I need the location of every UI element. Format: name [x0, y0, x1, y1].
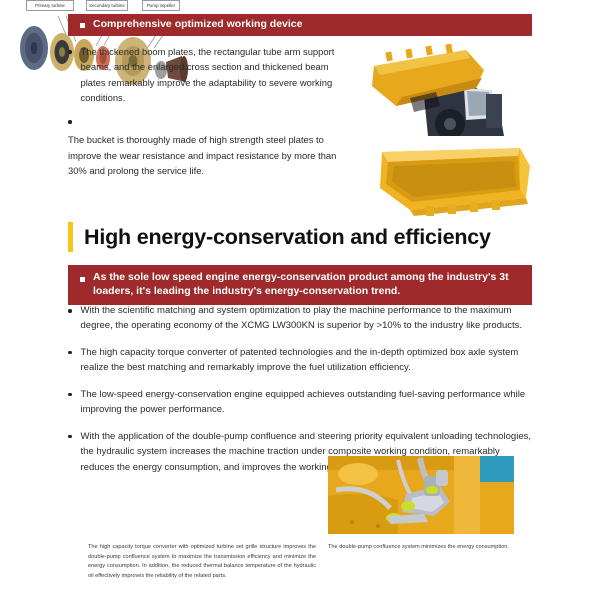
- list-item-text: With the scientific matching and system …: [81, 303, 535, 334]
- bullet-dot-icon: [68, 120, 72, 124]
- list-item-marker-only: [68, 114, 356, 123]
- diagram-label-secondary-turbine: Secondary turbine: [86, 0, 128, 11]
- section1-banner-label: Comprehensive optimized working device: [93, 18, 302, 32]
- diagram-label-pump-impeller: Pump impeller: [142, 0, 180, 11]
- double-pump-graphic: [328, 456, 514, 534]
- section2-banner: As the sole low speed engine energy-cons…: [68, 265, 532, 305]
- list-item: The bucket is thoroughly made of high st…: [68, 132, 356, 178]
- wheel-loader-bucket-photo: [366, 44, 532, 136]
- list-item-text: The low-speed energy-conservation engine…: [81, 387, 535, 418]
- page-title-text: High energy-conservation and efficiency: [84, 225, 491, 250]
- square-bullet-icon: [80, 277, 85, 282]
- double-pump-confluence-photo: [328, 456, 514, 534]
- list-item-text: The thickened boom plates, the rectangul…: [81, 44, 357, 105]
- list-item: The high capacity torque converter of pa…: [68, 345, 534, 376]
- yellow-accent-bar: [68, 222, 73, 252]
- bullet-dot-icon: [68, 351, 72, 355]
- list-item-text: The high capacity torque converter of pa…: [81, 345, 535, 376]
- bullet-dot-icon: [68, 50, 72, 54]
- list-item: The thickened boom plates, the rectangul…: [68, 44, 356, 105]
- bucket-photo-graphic: [370, 140, 534, 224]
- list-item: The low-speed energy-conservation engine…: [68, 387, 534, 418]
- torque-converter-caption: The high capacity torque converter with …: [88, 543, 316, 581]
- loader-photo-graphic: [366, 44, 532, 136]
- section2-banner-label: As the sole low speed engine energy-cons…: [93, 271, 522, 299]
- list-item: With the scientific matching and system …: [68, 303, 534, 334]
- page-title: High energy-conservation and efficiency: [68, 222, 491, 252]
- section1-bullet-list: The thickened boom plates, the rectangul…: [68, 44, 356, 187]
- brochure-page: Comprehensive optimized working device T…: [0, 0, 600, 600]
- bullet-dot-icon: [68, 435, 72, 439]
- list-item-text: The bucket is thoroughly made of high st…: [68, 132, 356, 178]
- diagram-label-primary-turbine: Primary turbine: [26, 0, 74, 11]
- standalone-bucket-photo: [370, 140, 534, 224]
- section1-banner: Comprehensive optimized working device: [68, 14, 532, 36]
- bullet-dot-icon: [68, 393, 72, 397]
- square-bullet-icon: [80, 23, 85, 28]
- double-pump-caption: The double-pump confluence system minimi…: [328, 543, 516, 553]
- bullet-dot-icon: [68, 309, 72, 313]
